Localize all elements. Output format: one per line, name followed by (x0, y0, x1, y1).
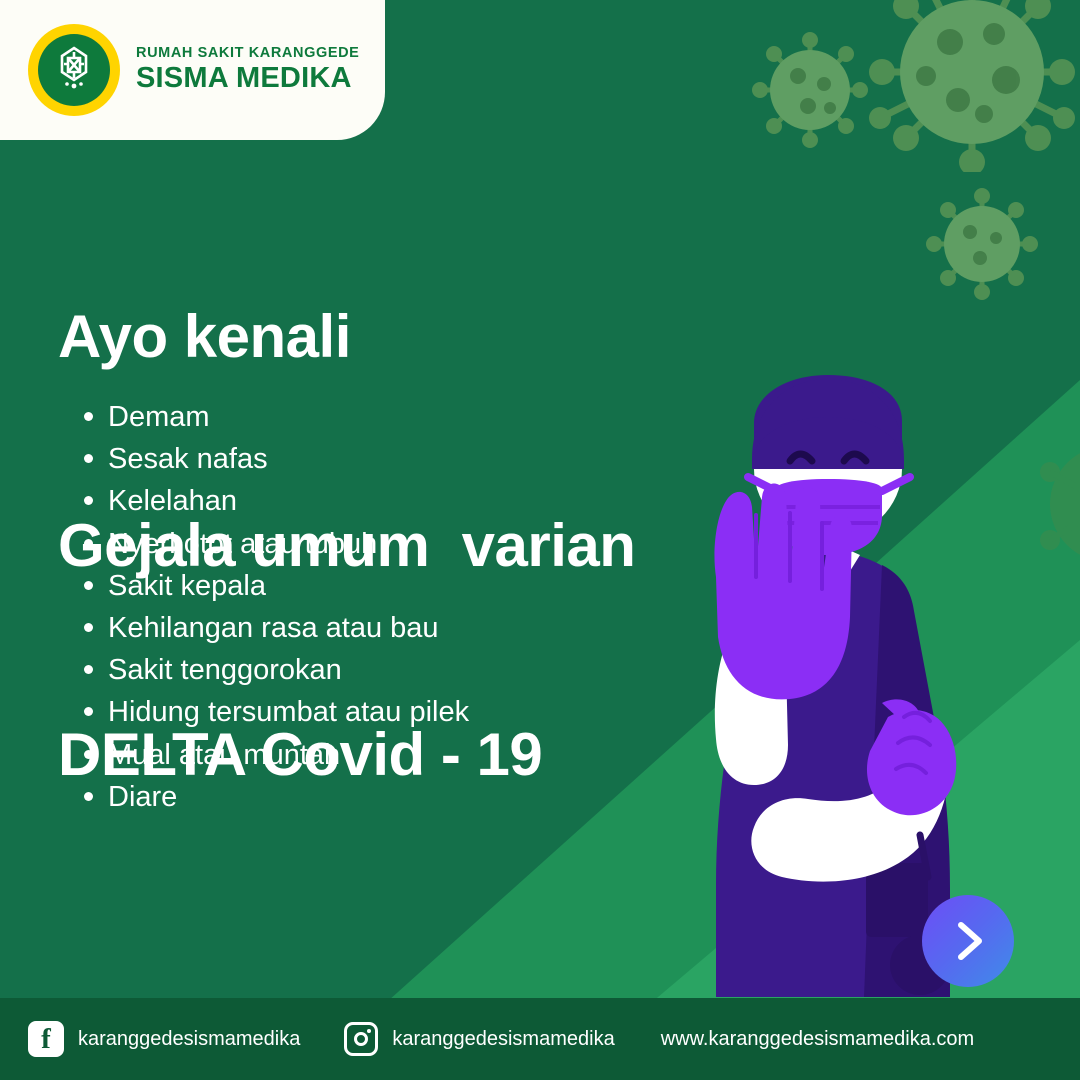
poster-canvas: RUMAH SAKIT KARANGGEDE SISMA MEDIKA Ayo … (0, 0, 1080, 1080)
instagram-icon[interactable] (344, 1022, 378, 1056)
next-button[interactable] (922, 895, 1014, 987)
hospital-ornament-icon (38, 34, 110, 106)
list-item: Hidung tersumbat atau pilek (76, 691, 469, 733)
brand-logo-card: RUMAH SAKIT KARANGGEDE SISMA MEDIKA (0, 0, 385, 140)
list-item: Sakit kepala (76, 565, 469, 607)
list-item: Sesak nafas (76, 438, 469, 480)
virus-particle-medium-icon (752, 32, 868, 148)
facebook-icon[interactable]: f (28, 1021, 64, 1057)
list-item: Nyeri otot atau tubuh (76, 523, 469, 565)
list-item: Diare (76, 776, 469, 818)
footer-bar: f karanggedesismamedika karanggedesismam… (0, 998, 1080, 1080)
instagram-handle[interactable]: karanggedesismamedika (392, 1028, 614, 1051)
list-item: Kelelahan (76, 480, 469, 522)
logo-mark (28, 24, 120, 116)
list-item: Kehilangan rasa atau bau (76, 607, 469, 649)
list-item: Demam (76, 396, 469, 438)
facebook-handle[interactable]: karanggedesismamedika (78, 1028, 300, 1051)
brand-text: RUMAH SAKIT KARANGGEDE SISMA MEDIKA (136, 46, 359, 94)
website-url[interactable]: www.karanggedesismamedika.com (661, 1028, 974, 1051)
chevron-right-icon (948, 919, 988, 963)
brand-line-1: RUMAH SAKIT KARANGGEDE (136, 46, 359, 61)
headline-line-1: Ayo kenali (58, 302, 635, 372)
brand-line-2: SISMA MEDIKA (136, 63, 359, 93)
list-item: Sakit tenggorokan (76, 649, 469, 691)
symptom-list: Demam Sesak nafas Kelelahan Nyeri otot a… (76, 396, 469, 818)
list-item: Mual atau muntah (76, 734, 469, 776)
virus-particle-small-icon (926, 188, 1038, 300)
virus-particle-large-icon (866, 0, 1078, 172)
